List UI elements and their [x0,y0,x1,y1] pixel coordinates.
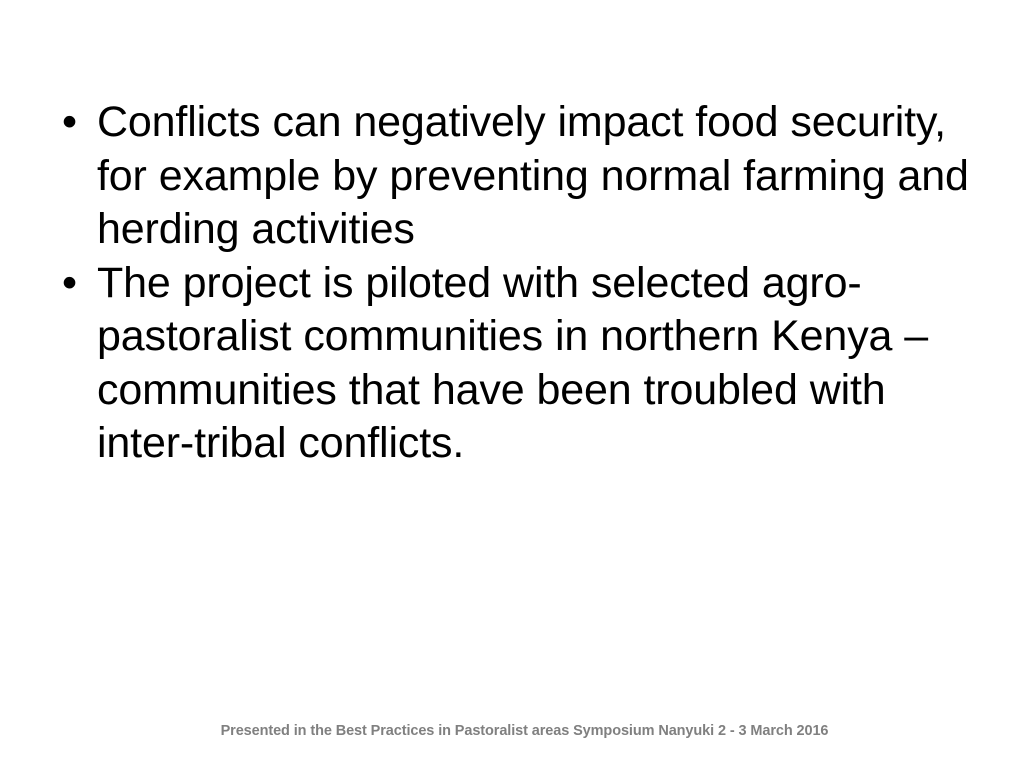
slide-body-placeholder: • Conflicts can negatively impact food s… [52,96,972,471]
bullet-list: • Conflicts can negatively impact food s… [52,96,972,471]
list-item: • The project is piloted with selected a… [52,257,972,471]
list-item-text: The project is piloted with selected agr… [97,257,972,471]
list-item: • Conflicts can negatively impact food s… [52,96,972,257]
slide-canvas: • Conflicts can negatively impact food s… [0,0,1024,768]
list-item-text: Conflicts can negatively impact food sec… [97,96,972,257]
slide-footer: Presented in the Best Practices in Pasto… [158,721,891,741]
bullet-point-icon: • [62,96,84,150]
bullet-point-icon: • [62,257,84,311]
